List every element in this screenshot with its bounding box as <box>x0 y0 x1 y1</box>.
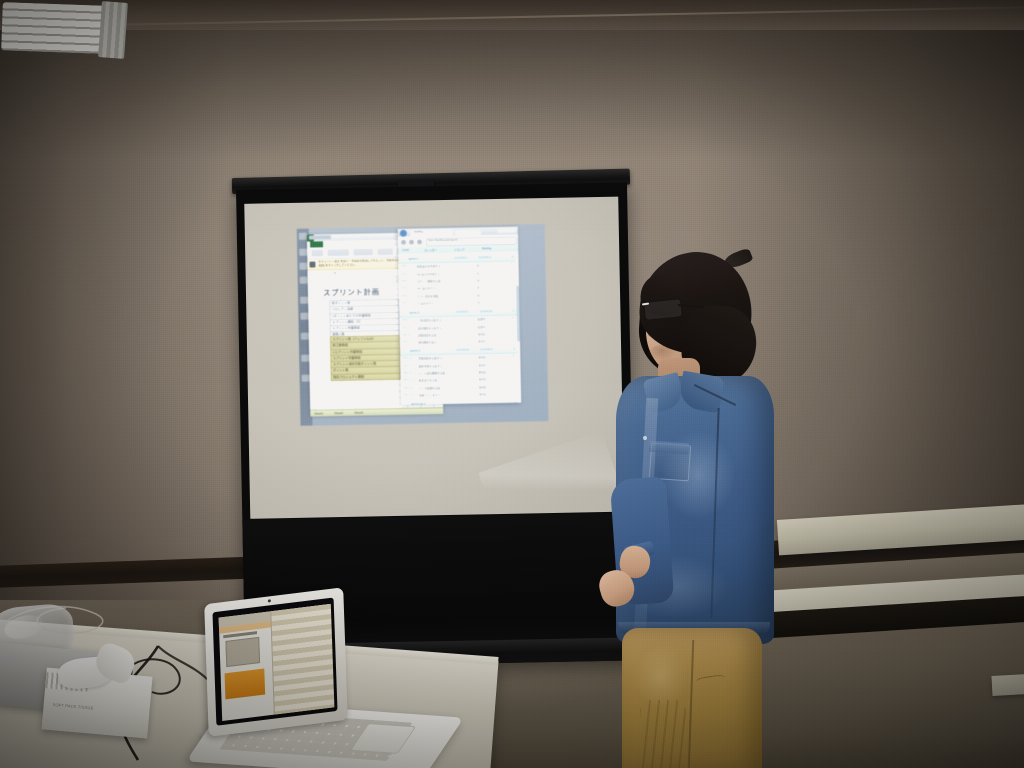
issue-summary: メール送信機能の実装 <box>419 371 446 376</box>
sheet-tab-2[interactable]: Sheet2 <box>334 411 343 415</box>
reload-icon[interactable] <box>417 239 422 244</box>
laptop-screen[interactable] <box>212 598 337 726</box>
sheet-tab-1[interactable]: Sheet1 <box>314 411 323 415</box>
forward-icon[interactable] <box>409 239 414 244</box>
issue-key: PRJ-4 <box>402 287 409 290</box>
status-badge: 未対応 <box>479 392 487 396</box>
laptop-page-table <box>270 604 334 715</box>
bookmark-item[interactable]: カレンダー <box>424 248 437 252</box>
laptop-lid <box>204 587 348 736</box>
issue-key: PRJ-13 <box>404 372 413 375</box>
folded-table-small-right <box>991 673 1024 696</box>
bookmark-item[interactable]: Gmail <box>402 248 409 251</box>
issue-key: PRJ-15 <box>404 386 413 389</box>
status-badge: 未対応 <box>479 378 487 382</box>
issue-key: PRJ-2 <box>402 272 409 275</box>
status-badge: 未対応 <box>478 340 486 344</box>
issue-points: 3 <box>512 300 514 303</box>
issue-summary: 帳票出力を実装 <box>419 379 438 383</box>
status-badge: 未対応 <box>479 370 487 374</box>
issue-points: 3 <box>513 392 515 395</box>
issue-key: PRJ-12 <box>403 364 412 367</box>
projected-desktop: セキュリティ警告 外部データ接続が無効にされました。内容を有効にするには、[コン… <box>297 224 549 426</box>
bookmark-item[interactable]: Backlog <box>482 247 491 250</box>
grey-laptop-edge <box>98 1 128 59</box>
issue-key: PRJ-5 <box>402 294 409 297</box>
ribbon-group-alignment[interactable] <box>353 248 373 255</box>
issue-key: PRJ-7 <box>403 319 410 322</box>
issue-summary: 画面設計を作成する <box>416 264 440 268</box>
table-row: 残存プロジェクト期間 <box>331 374 401 382</box>
status-badge: 処理中 <box>478 325 486 329</box>
issue-key: PRJ-3 <box>402 280 409 283</box>
sprint-start: 2014/05/29 <box>456 348 469 351</box>
sprint-end: 2014/06/11 <box>480 348 493 351</box>
issue-summary: 検索機能を実装する <box>418 326 442 330</box>
issue-points: 2 <box>512 292 514 295</box>
issue-summary: 詳細画面を実装 <box>418 333 437 337</box>
sheet-tab-3[interactable]: Sheet3 <box>354 411 363 415</box>
issue-summary: DB 設計を作成する <box>417 272 440 276</box>
issue-points: 8 <box>513 377 515 380</box>
sprint-end: 2014/05/14 <box>478 256 491 259</box>
list-item[interactable]: PRJ-16 性能テストを行う 未対応 3 <box>401 391 518 401</box>
status-badge: 完了 <box>477 286 482 290</box>
issue-points: 3 <box>511 270 513 273</box>
meeting-room-photo: セキュリティ警告 外部データ接続が無効にされました。内容を有効にするには、[コン… <box>0 0 1024 768</box>
backlog-sprint-list[interactable]: sprint 1 2014/05/01 2014/05/14 6 PRJ-1 画… <box>398 252 521 405</box>
status-badge: 完了 <box>477 278 482 282</box>
quick-access-toolbar[interactable] <box>309 235 331 239</box>
sprint-count: 6 <box>514 347 516 350</box>
taskbar-icon-notes[interactable] <box>301 355 309 362</box>
sprint-params-table[interactable]: 総ポイント数 ベロシティ実績 1ポイントあたりの作業時間 スプリント期間（日） … <box>329 299 400 339</box>
status-badge: 完了 <box>477 300 482 304</box>
issue-summary: CI 設定を行う <box>417 301 434 305</box>
wall-left-shading <box>0 30 230 615</box>
issue-summary: API 設計を行う <box>417 287 436 291</box>
browser-tab-label: backlog <box>414 230 423 233</box>
issue-key: PRJ-1 <box>401 265 408 268</box>
issue-points: 8 <box>512 317 514 320</box>
sprint-name: sprint 2 <box>409 311 419 315</box>
sprint-calc-highlight-table[interactable]: スプリント数（バッファ込み） 総工数時間 1スプリント作業時間 スプリント作業時… <box>330 335 401 381</box>
issue-points: 8 <box>513 355 515 358</box>
taskbar-icon-excel[interactable] <box>300 277 308 284</box>
sprint-name: sprint 1 <box>408 257 418 261</box>
white-macbook[interactable] <box>196 596 496 768</box>
window-controls[interactable] <box>498 229 516 233</box>
issue-summary: バッチ処理の実装 <box>419 386 441 390</box>
taskbar-icon-explorer[interactable] <box>299 249 307 256</box>
glasses-lens <box>643 298 683 321</box>
sprint-group[interactable]: sprint 3 2014/05/29 2014/06/11 6 PRJ-11 … <box>400 346 518 401</box>
issue-key: PRJ-14 <box>404 379 413 382</box>
ribbon-group-font[interactable] <box>327 249 349 256</box>
issue-summary: ログイン機能を実装 <box>417 279 441 283</box>
sprint-start: 2014/05/01 <box>454 256 467 259</box>
issue-key: PRJ-16 <box>404 394 413 397</box>
issue-points: 5 <box>513 384 515 387</box>
sheet-heading: スプリント計画 <box>323 286 380 298</box>
issue-key: PRJ-11 <box>403 357 412 360</box>
taskbar-icon-folder[interactable] <box>300 313 308 320</box>
grey-laptop-top <box>1 2 107 54</box>
issue-key: PRJ-6 <box>402 302 409 305</box>
back-icon[interactable] <box>401 239 406 244</box>
issue-summary: 一覧画面を実装する <box>418 318 442 322</box>
issue-summary: 権限管理を実装する <box>418 364 442 368</box>
status-badge: 完了 <box>477 271 482 275</box>
status-badge: 処理中 <box>477 317 485 321</box>
sprint-name: sprint 3 <box>410 349 420 353</box>
webcam-icon <box>268 599 271 602</box>
sprint-group[interactable]: sprint 2 2014/05/15 2014/05/28 4 PRJ-7 一… <box>399 308 517 348</box>
issue-summary: テスト環境を構築 <box>417 294 439 298</box>
taskbar-icon-chat[interactable] <box>301 333 309 340</box>
browser-window[interactable]: backlog https://backlog.jp/projects/ ...… <box>398 227 521 405</box>
screen-projection-surface: セキュリティ警告 外部データ接続が無効にされました。内容を有効にするには、[コン… <box>244 197 624 519</box>
taskbar-icon-start[interactable] <box>299 233 307 240</box>
taskbar-icon-settings[interactable] <box>302 375 310 382</box>
fx-icon: 𝑓x <box>334 271 337 275</box>
sprint-start: 2014/05/15 <box>455 310 468 313</box>
status-badge: 未対応 <box>479 385 487 389</box>
issue-points: 5 <box>513 362 515 365</box>
ribbon-group-number[interactable] <box>377 248 393 255</box>
sprint-count: 6 <box>512 255 514 258</box>
issue-points: 5 <box>511 263 513 266</box>
status-badge: 未対応 <box>478 355 486 359</box>
issue-points: 5 <box>513 370 515 373</box>
issue-points: 5 <box>511 285 513 288</box>
presenter <box>596 248 826 768</box>
laptop-page-thumbnail <box>225 637 260 667</box>
shield-icon <box>309 261 315 267</box>
sprint-end: 2014/05/28 <box>479 310 492 313</box>
sprint-count: 4 <box>513 309 515 312</box>
status-badge: 完了 <box>476 263 481 267</box>
issue-summary: 管理画面を実装する <box>418 356 442 360</box>
bookmark-item[interactable]: ドライブ <box>454 247 464 251</box>
status-badge: 完了 <box>477 293 482 297</box>
ribbon-group-clipboard[interactable] <box>311 249 323 256</box>
shirt-button <box>643 436 647 440</box>
laptop-page-orange-block <box>225 668 266 699</box>
issue-key: PRJ-10 <box>403 341 412 344</box>
pants-creases <box>640 700 686 768</box>
issue-summary: 性能テストを行う <box>419 393 441 397</box>
issue-points: 5 <box>512 324 514 327</box>
status-badge: 未対応 <box>478 363 486 367</box>
address-bar-url: https://backlog.jp/projects/ ... <box>428 238 461 242</box>
issue-key: PRJ-8 <box>403 326 410 329</box>
issue-points: 3 <box>512 339 514 342</box>
status-badge: 未対応 <box>478 332 486 336</box>
issue-points: 8 <box>511 278 513 281</box>
laptop-webpage[interactable] <box>219 604 334 721</box>
taskbar-icon-mail[interactable] <box>300 297 308 304</box>
issue-key: PRJ-9 <box>403 334 410 337</box>
list-item[interactable]: PRJ-6 CI 設定を行う 完了 3 <box>399 299 516 309</box>
sprint-group[interactable]: sprint 1 2014/05/01 2014/05/14 6 PRJ-1 画… <box>398 254 516 309</box>
issue-points: 5 <box>512 332 514 335</box>
taskbar-icon-browser[interactable] <box>299 263 307 270</box>
issue-summary: 通知機能の設計 <box>418 341 437 345</box>
